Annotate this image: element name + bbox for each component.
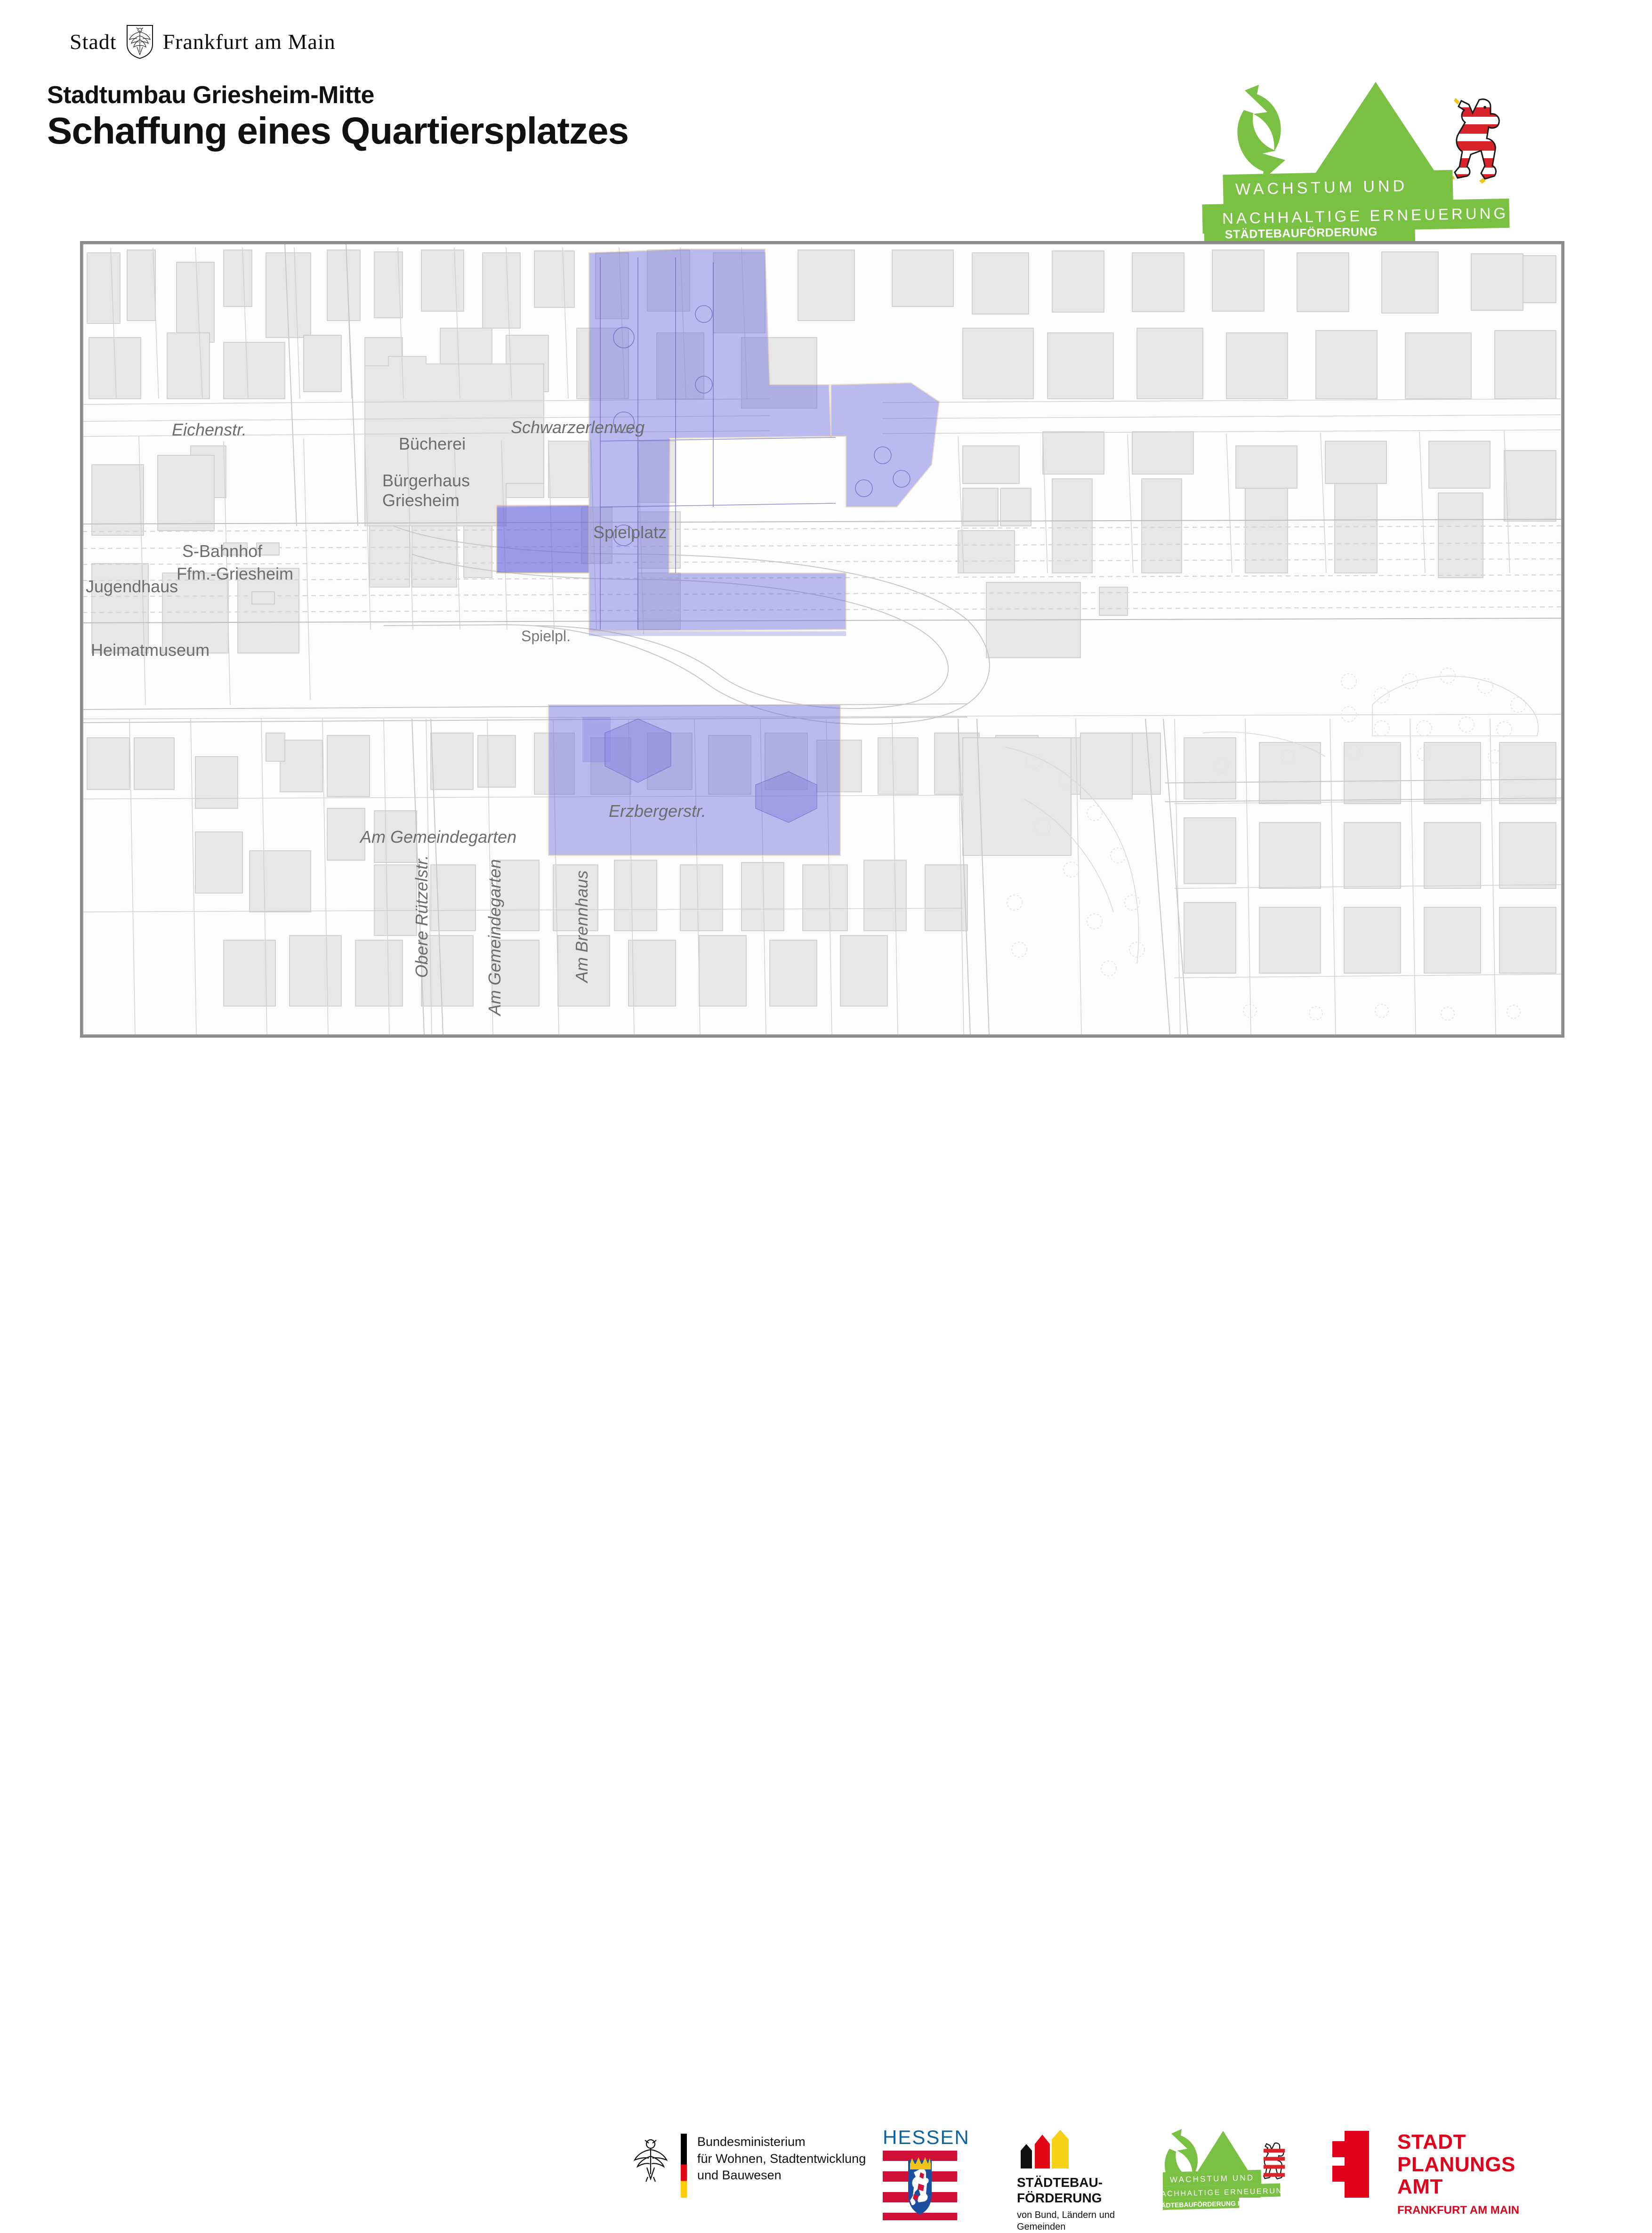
wachstum-logo-small-graphic: WACHSTUM UND NACHHALTIGE ERNEUERUNG STÄD… [1163, 2127, 1304, 2212]
cadastral-map[interactable]: Eichenstr. Schwarzerlenweg Am Gemeindega… [80, 241, 1564, 1038]
staedtebaufoerderung-logo: STÄDTEBAU- FÖRDERUNG von Bund, Ländern u… [1017, 2130, 1115, 2233]
city-of-frankfurt-logo: Stadt Frankfurt am Main [70, 24, 371, 58]
city-logo-word-stadt: Stadt [70, 29, 117, 54]
bmwsb-line3: und Bauwesen [697, 2167, 866, 2184]
title-block: Stadtumbau Griesheim-Mitte Schaffung ein… [47, 82, 629, 151]
bmwsb-text: Bundesministerium für Wohnen, Stadtentwi… [697, 2134, 866, 2184]
german-flag-bar-icon [681, 2134, 687, 2198]
staedtebau-line2: FÖRDERUNG [1017, 2190, 1115, 2206]
staedtebau-line4: Gemeinden [1017, 2221, 1115, 2233]
city-logo-word-frankfurt: Frankfurt am Main [163, 29, 336, 54]
street-label-obere-ruetzelstr: Obere Rützelstr. [412, 855, 432, 978]
map-vector-layer [82, 243, 1562, 1035]
stadtplanungsamt-logo: STADT PLANUNGS AMT FRANKFURT AM MAIN [1332, 2131, 1519, 2217]
spa-title: STADT PLANUNGS AMT [1397, 2131, 1519, 2198]
street-label-am-gemeindegarten-vertical: Am Gemeindegarten [485, 859, 505, 1016]
hessen-state-logo: HESSEN [883, 2126, 958, 2220]
page-subtitle: Stadtumbau Griesheim-Mitte [47, 82, 629, 108]
street-label-am-brennhaus: Am Brennhaus [572, 871, 592, 983]
wachstum-logo-small: WACHSTUM UND NACHHALTIGE ERNEUERUNG STÄD… [1163, 2127, 1304, 2212]
poi-label-spielplatz: Spielplatz [593, 523, 667, 542]
logo-band-wachstum: WACHSTUM UND [1223, 170, 1453, 205]
spa-mark-icon [1332, 2131, 1381, 2198]
staedtebau-line1: STÄDTEBAU- [1017, 2175, 1115, 2190]
poi-label-buergerhaus-griesheim: Griesheim [382, 491, 459, 510]
bmwsb-line1: Bundesministerium [697, 2134, 866, 2151]
poi-label-buergerhaus: Bürgerhaus [382, 471, 470, 491]
federal-eagle-icon [631, 2134, 670, 2183]
poi-label-jugendhaus: Jugendhaus [86, 577, 178, 597]
staedtebau-line3: von Bund, Ländern und [1017, 2209, 1115, 2221]
spa-line1: STADT [1397, 2131, 1519, 2153]
bmwsb-logo: Bundesministerium für Wohnen, Stadtentwi… [631, 2134, 866, 2198]
street-label-am-gemeindegarten: Am Gemeindegarten [360, 827, 516, 847]
poi-label-spielpl: Spielpl. [521, 628, 571, 645]
hessen-wordmark: HESSEN [883, 2126, 958, 2149]
street-label-erzbergerstr: Erzbergerstr. [609, 801, 706, 821]
staedtebau-sub: von Bund, Ländern und Gemeinden [1017, 2209, 1115, 2233]
poi-label-buecherei: Bücherei [399, 434, 466, 454]
eagle-crest-icon [125, 24, 154, 59]
page-title: Schaffung eines Quartiersplatzes [47, 111, 629, 151]
street-label-eichenstr: Eichenstr. [172, 420, 247, 440]
bmwsb-line2: für Wohnen, Stadtentwicklung [697, 2151, 866, 2168]
poi-label-ffm-griesheim: Ffm.-Griesheim [177, 564, 293, 584]
poi-label-s-bahnhof: S-Bahnhof [182, 541, 262, 561]
page-header: Stadt Frankfurt am Main Stadtumbau Gries… [0, 0, 1652, 235]
spa-subtitle: FRANKFURT AM MAIN [1397, 2204, 1519, 2217]
staedtebau-title: STÄDTEBAU- FÖRDERUNG [1017, 2175, 1115, 2206]
three-houses-icon [1017, 2130, 1072, 2169]
spa-line3: AMT [1397, 2176, 1519, 2198]
footer-logos: Bundesministerium für Wohnen, Stadtentwi… [0, 1059, 1652, 1168]
street-label-schwarzerlenweg: Schwarzerlenweg [511, 418, 645, 437]
spa-line2: PLANUNGS [1397, 2153, 1519, 2176]
poi-label-heimatmuseum: Heimatmuseum [91, 640, 210, 660]
hessen-coat-of-arms-icon [883, 2151, 957, 2220]
